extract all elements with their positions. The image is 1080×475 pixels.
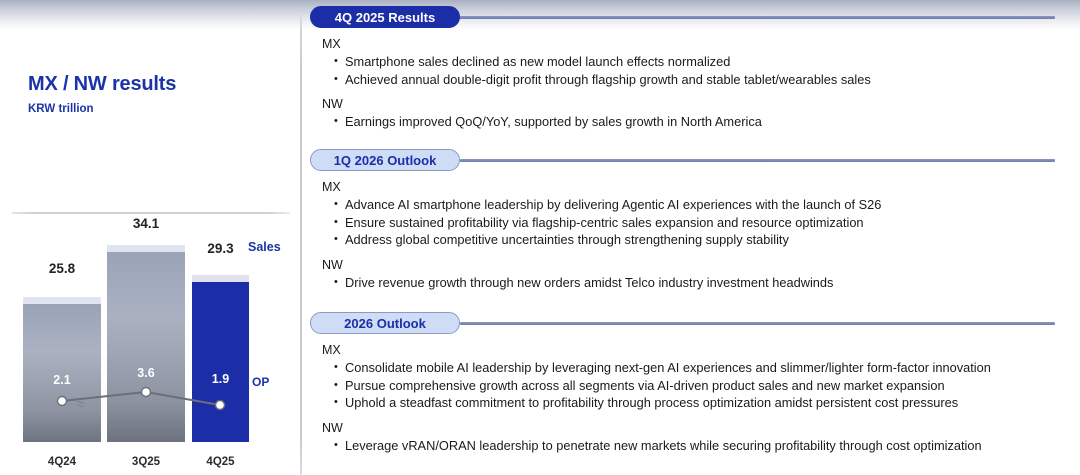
category-label-3q25: 3Q25 — [107, 456, 185, 468]
bar-3q25 — [107, 245, 185, 442]
list-item: Drive revenue growth through new orders … — [334, 274, 1080, 292]
list-item: Leverage vRAN/ORAN leadership to penetra… — [334, 437, 1080, 455]
group-label-mx: MX — [322, 343, 1080, 357]
group-label-nw: NW — [322, 421, 1080, 435]
chart-title: MX / NW results — [28, 73, 176, 96]
group-label-mx: MX — [322, 37, 1080, 51]
section-badge-2026-outlook[interactable]: 2026 Outlook — [310, 312, 460, 334]
chart-panel: MX / NW results KRW trillion 25.8 34.1 2… — [0, 0, 300, 475]
category-label-4q24: 4Q24 — [23, 456, 101, 468]
bullet-list-mx: Advance AI smartphone leadership by deli… — [334, 196, 1080, 249]
list-item: Earnings improved QoQ/YoY, supported by … — [334, 113, 1080, 131]
section-header: 1Q 2026 Outlook — [300, 149, 1080, 171]
commentary-panel: 4Q 2025 Results MX Smartphone sales decl… — [300, 0, 1080, 475]
bar-4q24 — [23, 297, 101, 442]
bullet-list-mx: Smartphone sales declined as new model l… — [334, 53, 1080, 88]
bullet-list-nw: Drive revenue growth through new orders … — [334, 274, 1080, 292]
list-item: Ensure sustained profitability via flags… — [334, 214, 1080, 232]
group-label-mx: MX — [322, 180, 1080, 194]
category-label-4q25: 4Q25 — [192, 456, 249, 468]
section-header: 2026 Outlook — [300, 312, 1080, 334]
legend-sales-label: Sales — [248, 240, 281, 254]
section-rule — [460, 159, 1055, 162]
section-badge-1q-2026-outlook[interactable]: 1Q 2026 Outlook — [310, 149, 460, 171]
bar-value-4q24: 25.8 — [23, 261, 101, 276]
list-item: Pursue comprehensive growth across all s… — [334, 377, 1080, 395]
section-rule — [460, 322, 1055, 325]
list-item: Consolidate mobile AI leadership by leve… — [334, 359, 1080, 377]
section-rule — [450, 16, 1055, 19]
section-4q-2025-results: 4Q 2025 Results MX Smartphone sales decl… — [300, 6, 1080, 131]
bar-cap — [107, 245, 185, 252]
group-label-nw: NW — [322, 97, 1080, 111]
list-item: Achieved annual double-digit profit thro… — [334, 71, 1080, 89]
op-value-3q25: 3.6 — [107, 366, 185, 380]
bar-body — [107, 252, 185, 442]
list-item: Address global competitive uncertainties… — [334, 231, 1080, 249]
list-item: Advance AI smartphone leadership by deli… — [334, 196, 1080, 214]
bullet-list-nw: Leverage vRAN/ORAN leadership to penetra… — [334, 437, 1080, 455]
bullet-list-mx: Consolidate mobile AI leadership by leve… — [334, 359, 1080, 412]
group-label-nw: NW — [322, 258, 1080, 272]
chart-axis-baseline — [12, 212, 290, 214]
slide-root: MX / NW results KRW trillion 25.8 34.1 2… — [0, 0, 1080, 475]
op-value-4q24: 2.1 — [23, 373, 101, 387]
list-item: Smartphone sales declined as new model l… — [334, 53, 1080, 71]
section-2026-outlook: 2026 Outlook MX Consolidate mobile AI le… — [300, 312, 1080, 454]
bullet-list-nw: Earnings improved QoQ/YoY, supported by … — [334, 113, 1080, 131]
chart-subtitle: KRW trillion — [28, 103, 94, 115]
section-1q-2026-outlook: 1Q 2026 Outlook MX Advance AI smartphone… — [300, 149, 1080, 291]
bar-cap — [23, 297, 101, 304]
bar-body — [192, 282, 249, 442]
bar-value-3q25: 34.1 — [107, 216, 185, 231]
section-header: 4Q 2025 Results — [300, 6, 1080, 28]
bar-cap — [192, 275, 249, 282]
section-badge-4q-2025-results[interactable]: 4Q 2025 Results — [310, 6, 460, 28]
bar-4q25 — [192, 275, 249, 442]
list-item: Uphold a steadfast commitment to profita… — [334, 394, 1080, 412]
op-value-4q25: 1.9 — [192, 372, 249, 386]
bar-value-4q25: 29.3 — [192, 241, 249, 256]
legend-op-label: OP — [252, 375, 269, 389]
